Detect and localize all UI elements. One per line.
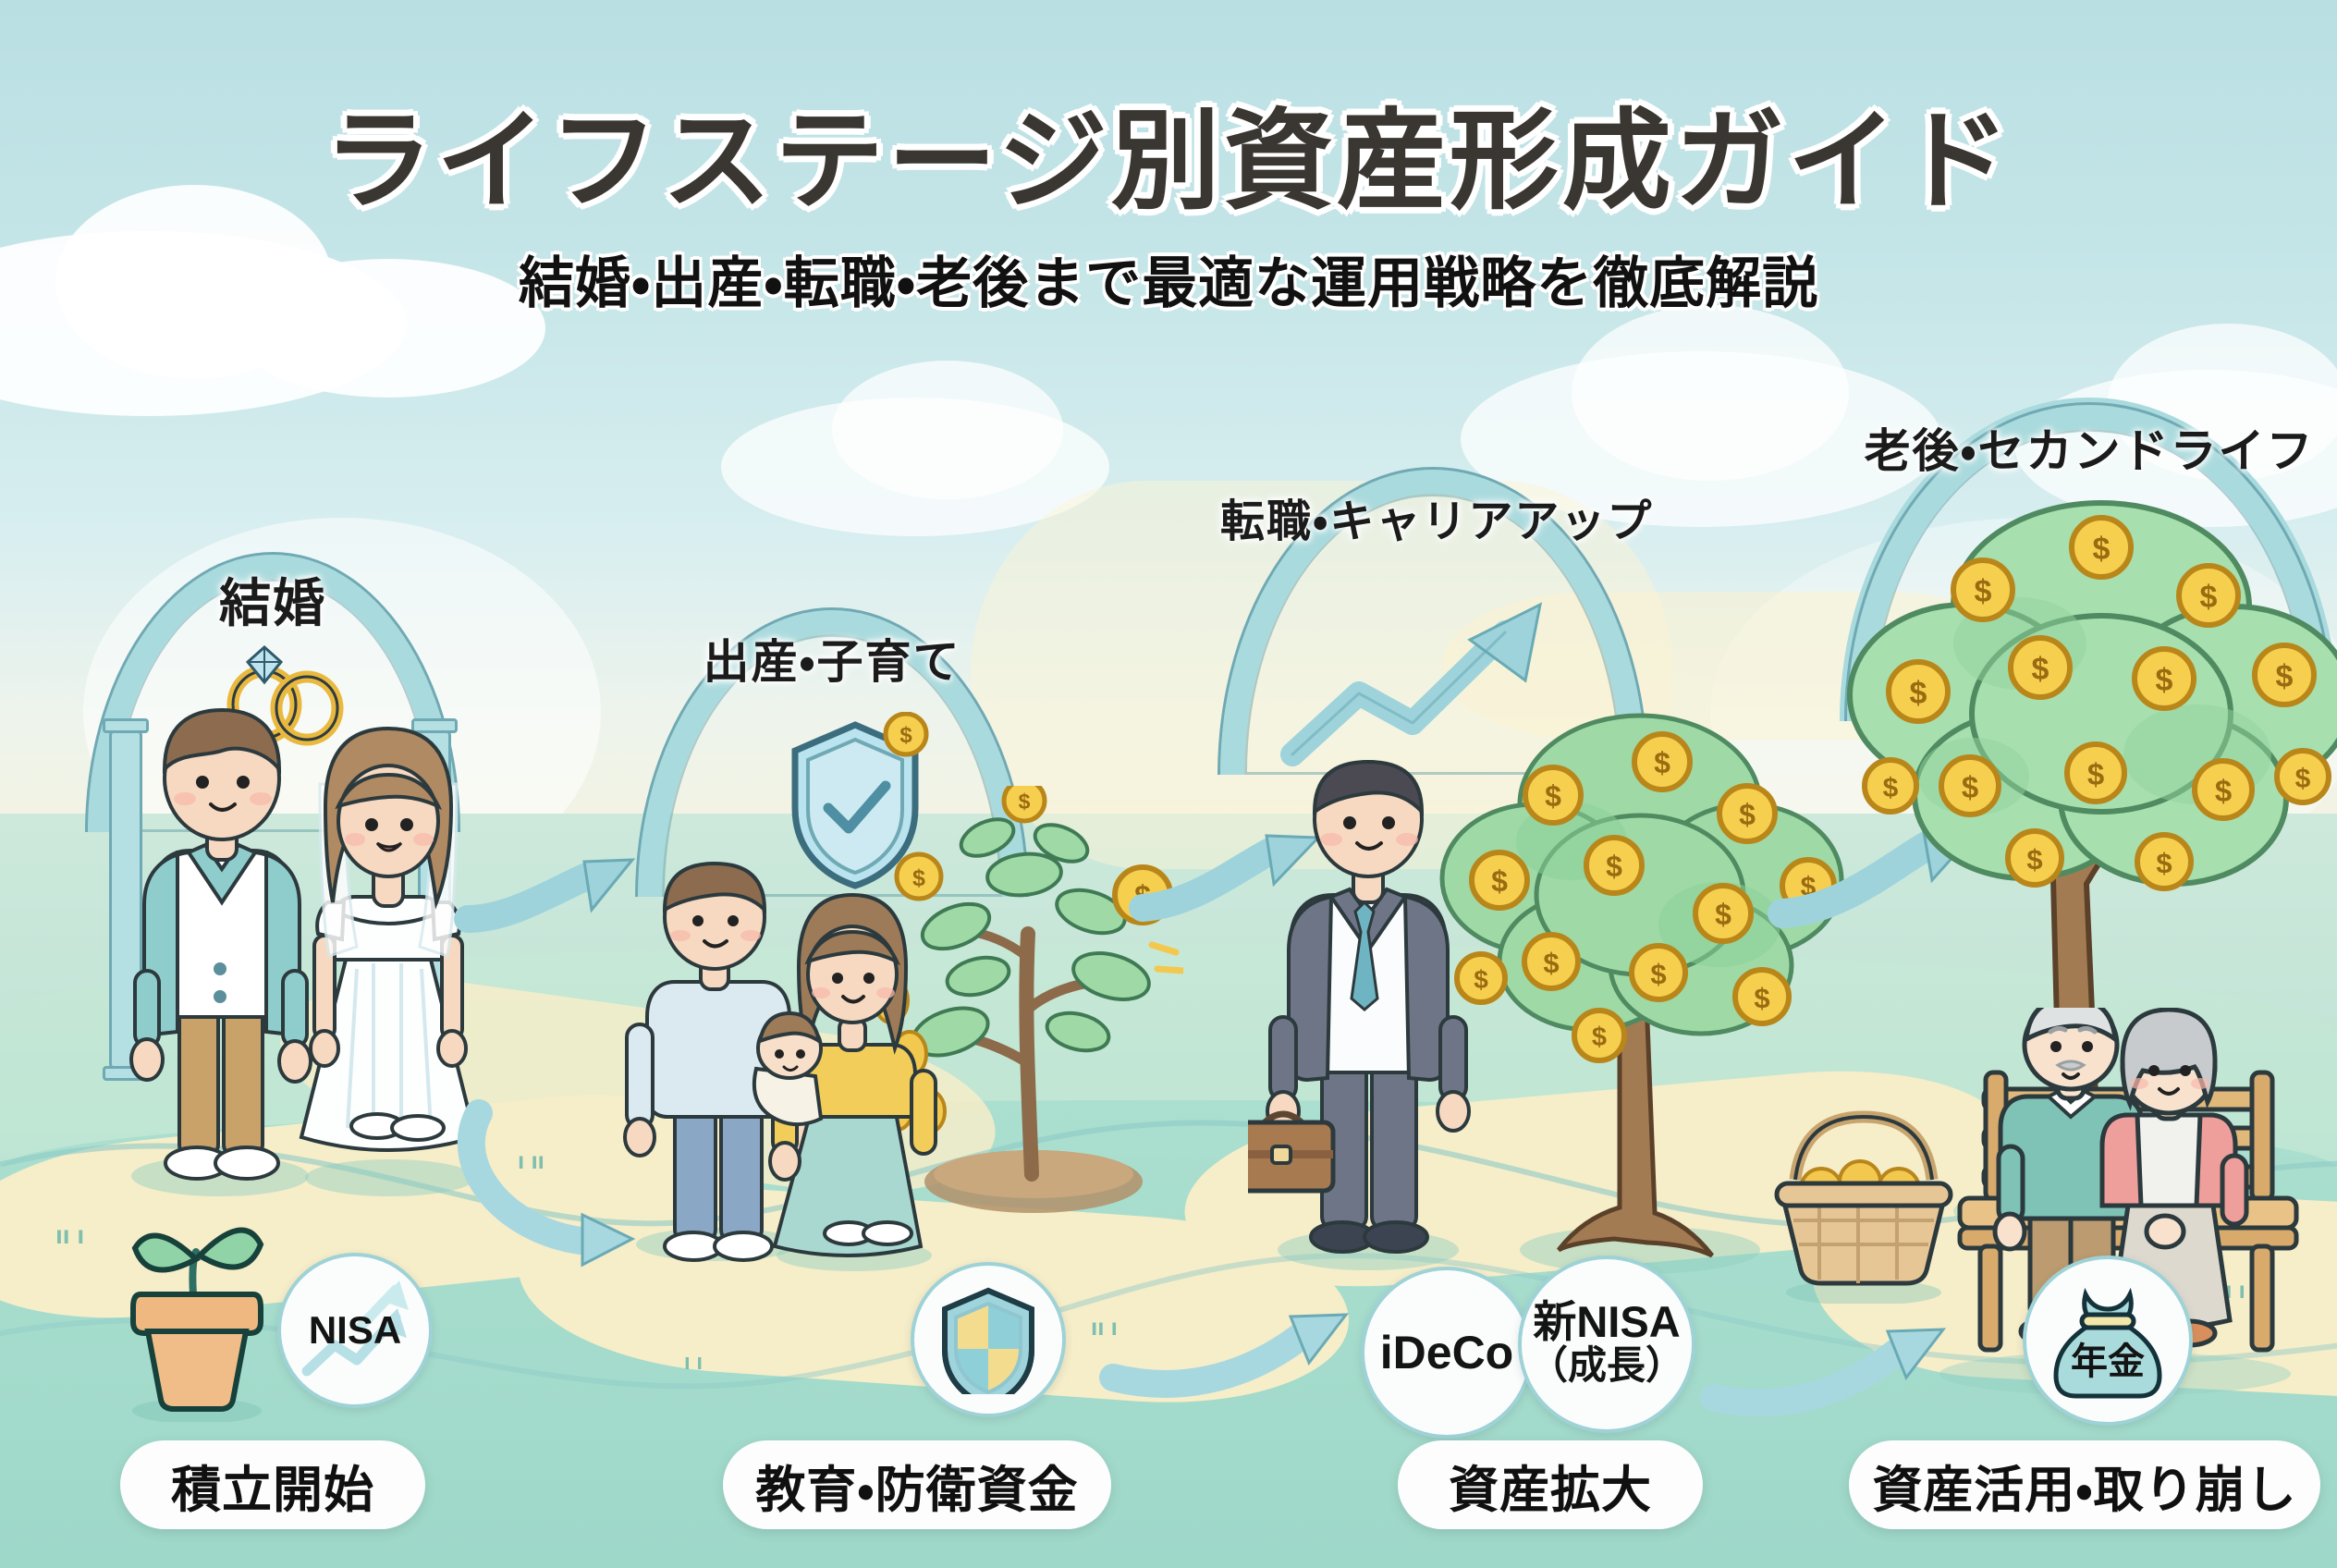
arch-label-career: 転職・キャリアアップ (1220, 484, 1646, 549)
svg-text:$: $ (2093, 532, 2111, 567)
svg-text:$: $ (1650, 958, 1666, 990)
grass-tuft-icon: ıı ı (55, 1220, 84, 1250)
mother-and-baby-figure (749, 888, 961, 1276)
badge-new-nisa-label-2: （成長） (1529, 1343, 1684, 1388)
svg-text:$: $ (1975, 574, 1992, 609)
svg-text:$: $ (1545, 779, 1561, 813)
svg-text:$: $ (1715, 898, 1731, 931)
svg-text:$: $ (1654, 746, 1670, 779)
svg-text:$: $ (2200, 580, 2218, 615)
svg-text:$: $ (1592, 1023, 1607, 1052)
svg-text:$: $ (2215, 774, 2232, 808)
svg-text:$: $ (1474, 965, 1488, 994)
briefcase-icon (1248, 1114, 1333, 1191)
page-title: ライフステージ別資産形成ガイド (0, 72, 2337, 230)
money-bag-icon: 年金 (2050, 1281, 2165, 1400)
svg-text:$: $ (1910, 676, 1927, 711)
svg-text:$: $ (2087, 757, 2104, 791)
infographic-canvas: ıı ı ı ıı ıı ı ı ıı ıı ı ı ı ライフステージ別資産形… (0, 0, 2337, 1568)
svg-text:$: $ (2026, 843, 2042, 876)
svg-text:$: $ (1606, 850, 1622, 883)
badge-pension[interactable]: 年金 (2023, 1256, 2193, 1426)
baby-figure (754, 1013, 821, 1124)
badge-ideco[interactable]: iDeCo (1361, 1267, 1533, 1439)
page-subtitle: 結婚・出産・転職・老後まで最適な運用戦略を徹底解説 (0, 239, 2337, 319)
svg-text:$: $ (1962, 770, 1978, 804)
pill-label-asset-growth[interactable]: 資産拡大 (1398, 1440, 1703, 1529)
coin-basket-icon (1762, 1091, 1965, 1304)
svg-text:$: $ (1739, 798, 1756, 831)
pill-label-education-fund[interactable]: 教育・防衛資金 (723, 1440, 1111, 1529)
arch-label-marriage: 結婚 (88, 562, 458, 637)
cloud-icon (1572, 305, 1849, 481)
badge-new-nisa-label-1: 新NISA (1533, 1300, 1680, 1343)
svg-text:$: $ (1754, 982, 1769, 1014)
svg-text:$: $ (2156, 847, 2172, 879)
pill-label-saving-start[interactable]: 積立開始 (120, 1440, 425, 1529)
shield-icon (937, 1285, 1039, 1394)
badge-new-nisa[interactable]: 新NISA （成長） (1518, 1256, 1695, 1433)
pension-label: 年金 (2071, 1341, 2145, 1382)
arch-label-childbirth: 出産・子育て (638, 625, 1026, 692)
badge-shield[interactable] (911, 1262, 1066, 1417)
cloud-icon (832, 361, 1063, 499)
svg-text:$: $ (2032, 652, 2049, 687)
svg-text:$: $ (2156, 663, 2173, 698)
svg-text:$: $ (2295, 764, 2311, 794)
badge-nisa-label: NISA (309, 1311, 401, 1350)
svg-text:$: $ (1543, 947, 1559, 979)
badge-nisa[interactable]: NISA (277, 1253, 433, 1408)
arch-label-retirement: 老後・セカンドライフ (1840, 414, 2337, 481)
svg-text:$: $ (2276, 659, 2294, 694)
badge-ideco-label: iDeCo (1380, 1329, 1513, 1376)
grass-tuft-icon: ı ı (684, 1350, 703, 1376)
flow-arrow-2b (1100, 1276, 1387, 1415)
svg-text:$: $ (1491, 864, 1508, 898)
svg-text:$: $ (1883, 773, 1899, 803)
svg-text:$: $ (1019, 790, 1031, 814)
potted-sprout-icon (109, 1191, 285, 1422)
pill-label-asset-drawdown[interactable]: 資産活用・取り崩し (1849, 1440, 2320, 1529)
svg-text:$: $ (899, 723, 912, 748)
